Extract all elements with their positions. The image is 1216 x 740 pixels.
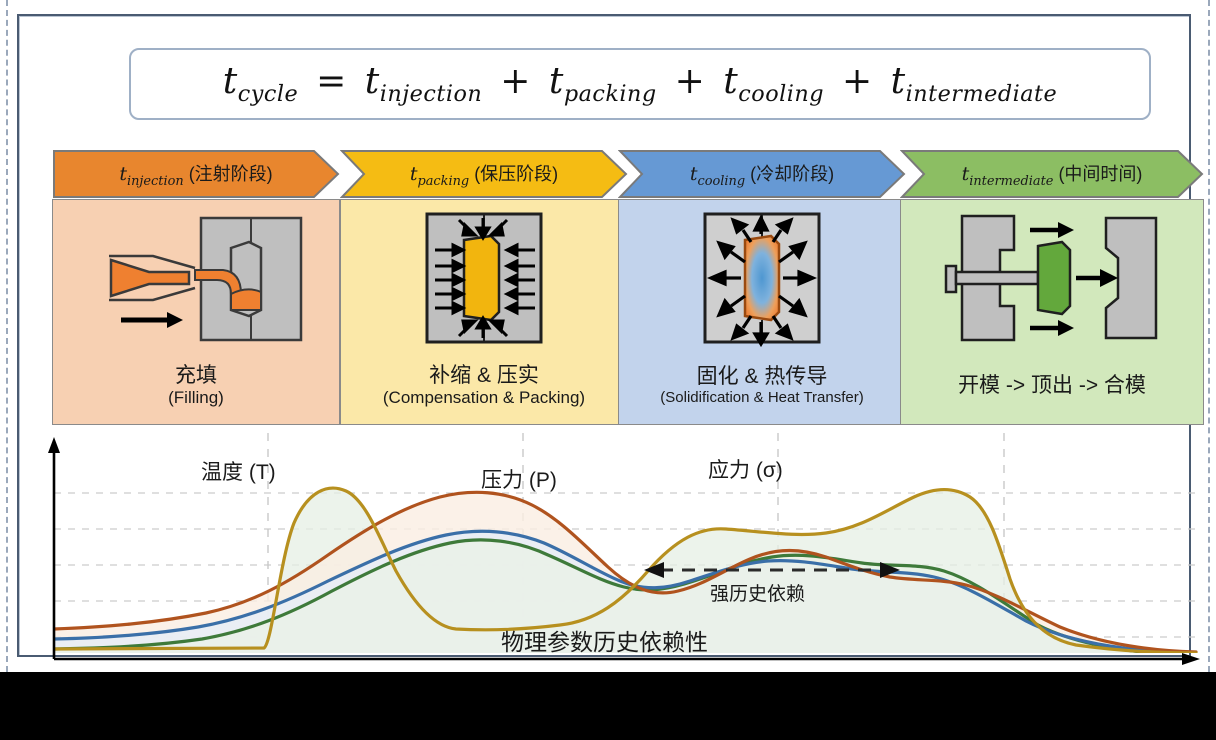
phase-intermediate-header: tintermediate (中间时间): [900, 149, 1204, 199]
phase-injection-header-cn: (注射阶段): [189, 164, 273, 184]
curve-label-temperature: 温度 (T): [201, 456, 276, 486]
cycle-time-formula: tcycle = tinjection + tpacking + tcoolin…: [223, 61, 1057, 107]
plus-sign-2: +: [669, 61, 712, 102]
nozzle-injection-icon: [71, 208, 321, 348]
phase-intermediate-body: 开模 -> 顶出 -> 合模: [900, 199, 1204, 425]
phase-injection-caption: 充填 (Filling): [164, 348, 228, 424]
phase-intermediate-caption-cn: 开模 -> 顶出 -> 合模: [958, 374, 1146, 398]
plus-sign-1: +: [494, 61, 537, 102]
curve-label-stress: 应力 (σ): [708, 454, 783, 484]
phase-intermediate-caption: 开模 -> 顶出 -> 合模: [954, 348, 1150, 424]
formula-box: tcycle = tinjection + tpacking + tcoolin…: [129, 48, 1151, 120]
phase-packing-body: 补缩 & 压实 (Compensation & Packing): [340, 199, 628, 425]
parameter-history-chart: 温度 (T) 压力 (P) 应力 (σ) 强历史依赖 物理参数历史依赖性: [36, 431, 1210, 679]
phase-cooling-header: tcooling (冷却阶段): [618, 149, 906, 199]
phase-injection-body: 充填 (Filling): [52, 199, 340, 425]
formula-term-cooling: tcooling: [723, 61, 824, 102]
phase-packing-header: tpacking (保压阶段): [340, 149, 628, 199]
phase-injection-caption-en: (Filling): [168, 388, 224, 408]
phase-cooling-body: 固化 & 热传导 (Solidification & Heat Transfer…: [618, 199, 906, 425]
phase-packing-caption-en: (Compensation & Packing): [383, 388, 585, 408]
phase-injection-caption-cn: 充填: [175, 364, 217, 388]
phase-cooling-caption-en: (Solidification & Heat Transfer): [660, 389, 863, 406]
phase-cooling-header-label: tcooling (冷却阶段): [690, 160, 834, 189]
packing-pressure-icon: [389, 208, 579, 348]
formula-term-intermediate: tintermediate: [891, 61, 1058, 102]
phase-intermediate-header-label: tintermediate (中间时间): [962, 160, 1143, 189]
phase-packing-header-cn: (保压阶段): [474, 164, 558, 184]
phase-cooling-caption-cn: 固化 & 热传导: [697, 365, 828, 389]
y-axis-arrowhead: [48, 437, 60, 453]
phase-cooling-caption: 固化 & 热传导 (Solidification & Heat Transfer…: [656, 348, 867, 424]
screenshot-stage: tcycle = tinjection + tpacking + tcoolin…: [0, 0, 1216, 740]
x-axis-arrowhead: [1182, 653, 1200, 665]
phase-packing-caption: 补缩 & 压实 (Compensation & Packing): [379, 348, 589, 424]
plus-sign-3: +: [836, 61, 879, 102]
guide-rail-left: [6, 0, 8, 672]
packing-figure: [389, 208, 579, 348]
formula-term-injection: tinjection: [365, 61, 483, 102]
formula-term-packing: tpacking: [549, 61, 657, 102]
intermediate-figure: [918, 208, 1186, 348]
formula-lhs: tcycle: [223, 61, 298, 102]
cooling-figure: [667, 208, 857, 348]
phase-injection-header: tinjection (注射阶段): [52, 149, 340, 199]
history-dependence-label: 强历史依赖: [710, 579, 805, 606]
injection-figure: [71, 208, 321, 348]
phase-intermediate[interactable]: tintermediate (中间时间): [900, 149, 1204, 425]
slide-frame: tcycle = tinjection + tpacking + tcoolin…: [17, 14, 1191, 657]
equals-sign: =: [310, 61, 353, 102]
curve-label-pressure: 压力 (P): [481, 464, 557, 494]
chart-caption: 物理参数历史依赖性: [501, 623, 708, 657]
phase-packing-caption-cn: 补缩 & 压实: [429, 364, 539, 388]
phase-cooling-header-cn: (冷却阶段): [750, 164, 834, 184]
phase-packing[interactable]: tpacking (保压阶段): [340, 149, 628, 425]
phase-packing-header-label: tpacking (保压阶段): [410, 160, 558, 189]
phase-intermediate-header-cn: (中间时间): [1058, 164, 1142, 184]
phase-injection[interactable]: tinjection (注射阶段): [52, 149, 340, 425]
flow-arrow-right: [121, 312, 183, 328]
phase-cooling[interactable]: tcooling (冷却阶段): [618, 149, 906, 425]
phase-row: tinjection (注射阶段): [52, 149, 1204, 425]
slide-area: tcycle = tinjection + tpacking + tcoolin…: [0, 0, 1216, 672]
mold-open-eject-icon: [918, 208, 1186, 348]
phase-injection-header-label: tinjection (注射阶段): [119, 160, 272, 189]
cooling-heatflow-icon: [667, 208, 857, 348]
